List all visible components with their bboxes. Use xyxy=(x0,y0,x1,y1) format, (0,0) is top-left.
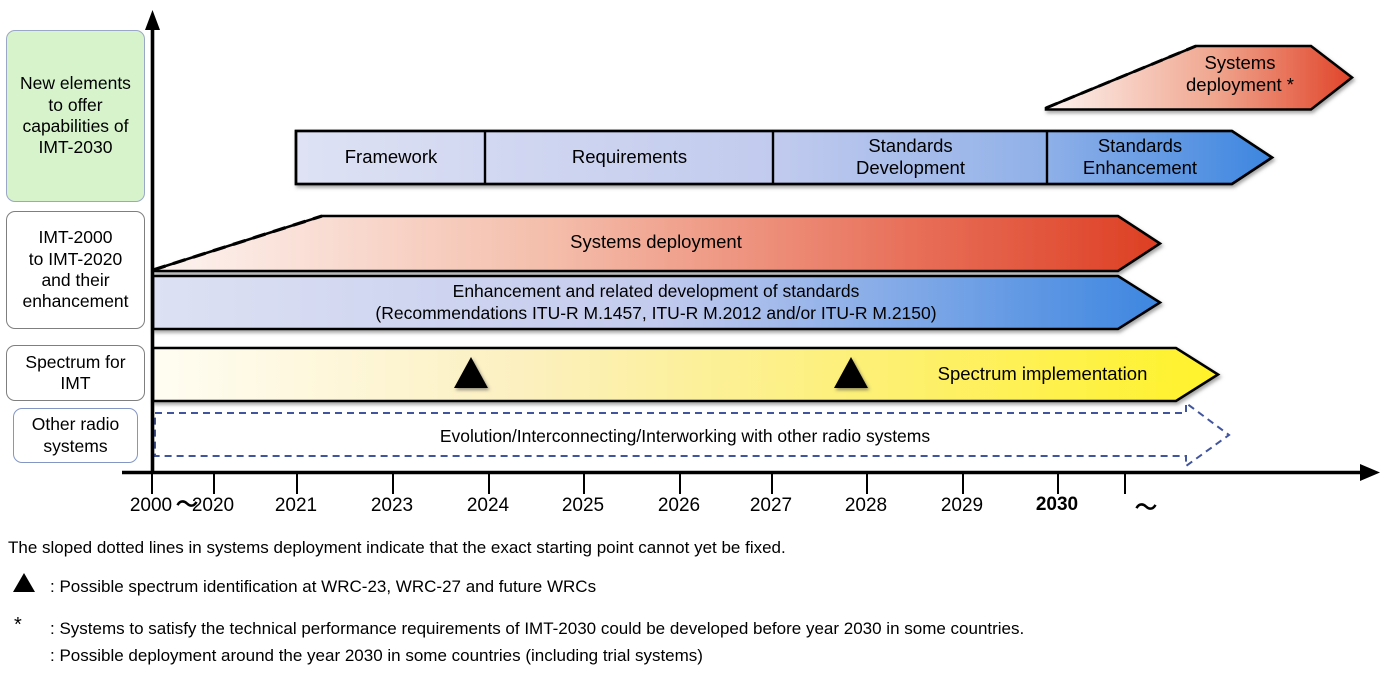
x-axis-arrowhead xyxy=(1360,464,1380,481)
footnote-imt2030-deployment: : Systems to satisfy the technical perfo… xyxy=(50,618,1024,640)
legacy-enhancement-arrow xyxy=(153,276,1160,329)
category-label-other-radio-systems: Other radio systems xyxy=(13,408,138,463)
axis-tick xyxy=(962,472,964,494)
axis-tick-label: 2029 xyxy=(919,495,1005,517)
axis-tick-label: 2030 xyxy=(1014,494,1100,516)
category-label-text: New elements to offer capabilities of IM… xyxy=(20,73,131,158)
axis-tick-label: 2021 xyxy=(253,495,339,517)
category-label-text: Spectrum for IMT xyxy=(25,352,125,395)
category-label-new-elements: New elements to offer capabilities of IM… xyxy=(6,30,145,202)
axis-tick-label: 2024 xyxy=(445,495,531,517)
axis-tick xyxy=(1124,472,1126,494)
axis-tick xyxy=(213,472,215,494)
axis-tick-label: 2023 xyxy=(349,495,435,517)
axis-tick xyxy=(771,472,773,494)
axis-tick-label: 2020 xyxy=(170,495,256,517)
axis-tick xyxy=(392,472,394,494)
legend-triangle-icon xyxy=(13,573,35,592)
footnote-asterisk-marker: * xyxy=(14,614,22,637)
footnote-spectrum-identification: : Possible spectrum identification at WR… xyxy=(50,576,596,598)
axis-tick xyxy=(488,472,490,494)
y-axis-arrowhead xyxy=(145,10,160,30)
standards-progress-bar xyxy=(296,131,1272,184)
axis-tick xyxy=(866,472,868,494)
category-label-text: Other radio systems xyxy=(32,414,120,457)
axis-tick-label: 2025 xyxy=(540,495,626,517)
axis-tick xyxy=(151,472,153,494)
axis-tick-label: 2028 xyxy=(823,495,909,517)
footnote-sloped-lines: The sloped dotted lines in systems deplo… xyxy=(8,537,786,559)
axis-tick xyxy=(1057,472,1059,494)
category-label-spectrum-for-imt: Spectrum for IMT xyxy=(6,345,145,401)
imt2030-systems-deployment-arrow xyxy=(1046,46,1352,110)
axis-tick xyxy=(679,472,681,494)
spectrum-implementation-arrow xyxy=(153,348,1218,401)
axis-tick-label: 2026 xyxy=(636,495,722,517)
legacy-systems-deployment-arrow xyxy=(153,216,1160,271)
footnote-trial-systems: : Possible deployment around the year 20… xyxy=(50,645,703,667)
imt-timeline-diagram: New elements to offer capabilities of IM… xyxy=(0,0,1386,698)
category-label-text: IMT-2000 to IMT-2020 and their enhanceme… xyxy=(22,227,128,312)
axis-tick xyxy=(296,472,298,494)
axis-tick xyxy=(583,472,585,494)
axis-tick-label: 2027 xyxy=(728,495,814,517)
category-label-imt-2000-2020: IMT-2000 to IMT-2020 and their enhanceme… xyxy=(6,211,145,329)
axis-break-symbol-right: 〜 xyxy=(1135,490,1157,522)
other-radio-systems-arrow xyxy=(155,403,1229,466)
